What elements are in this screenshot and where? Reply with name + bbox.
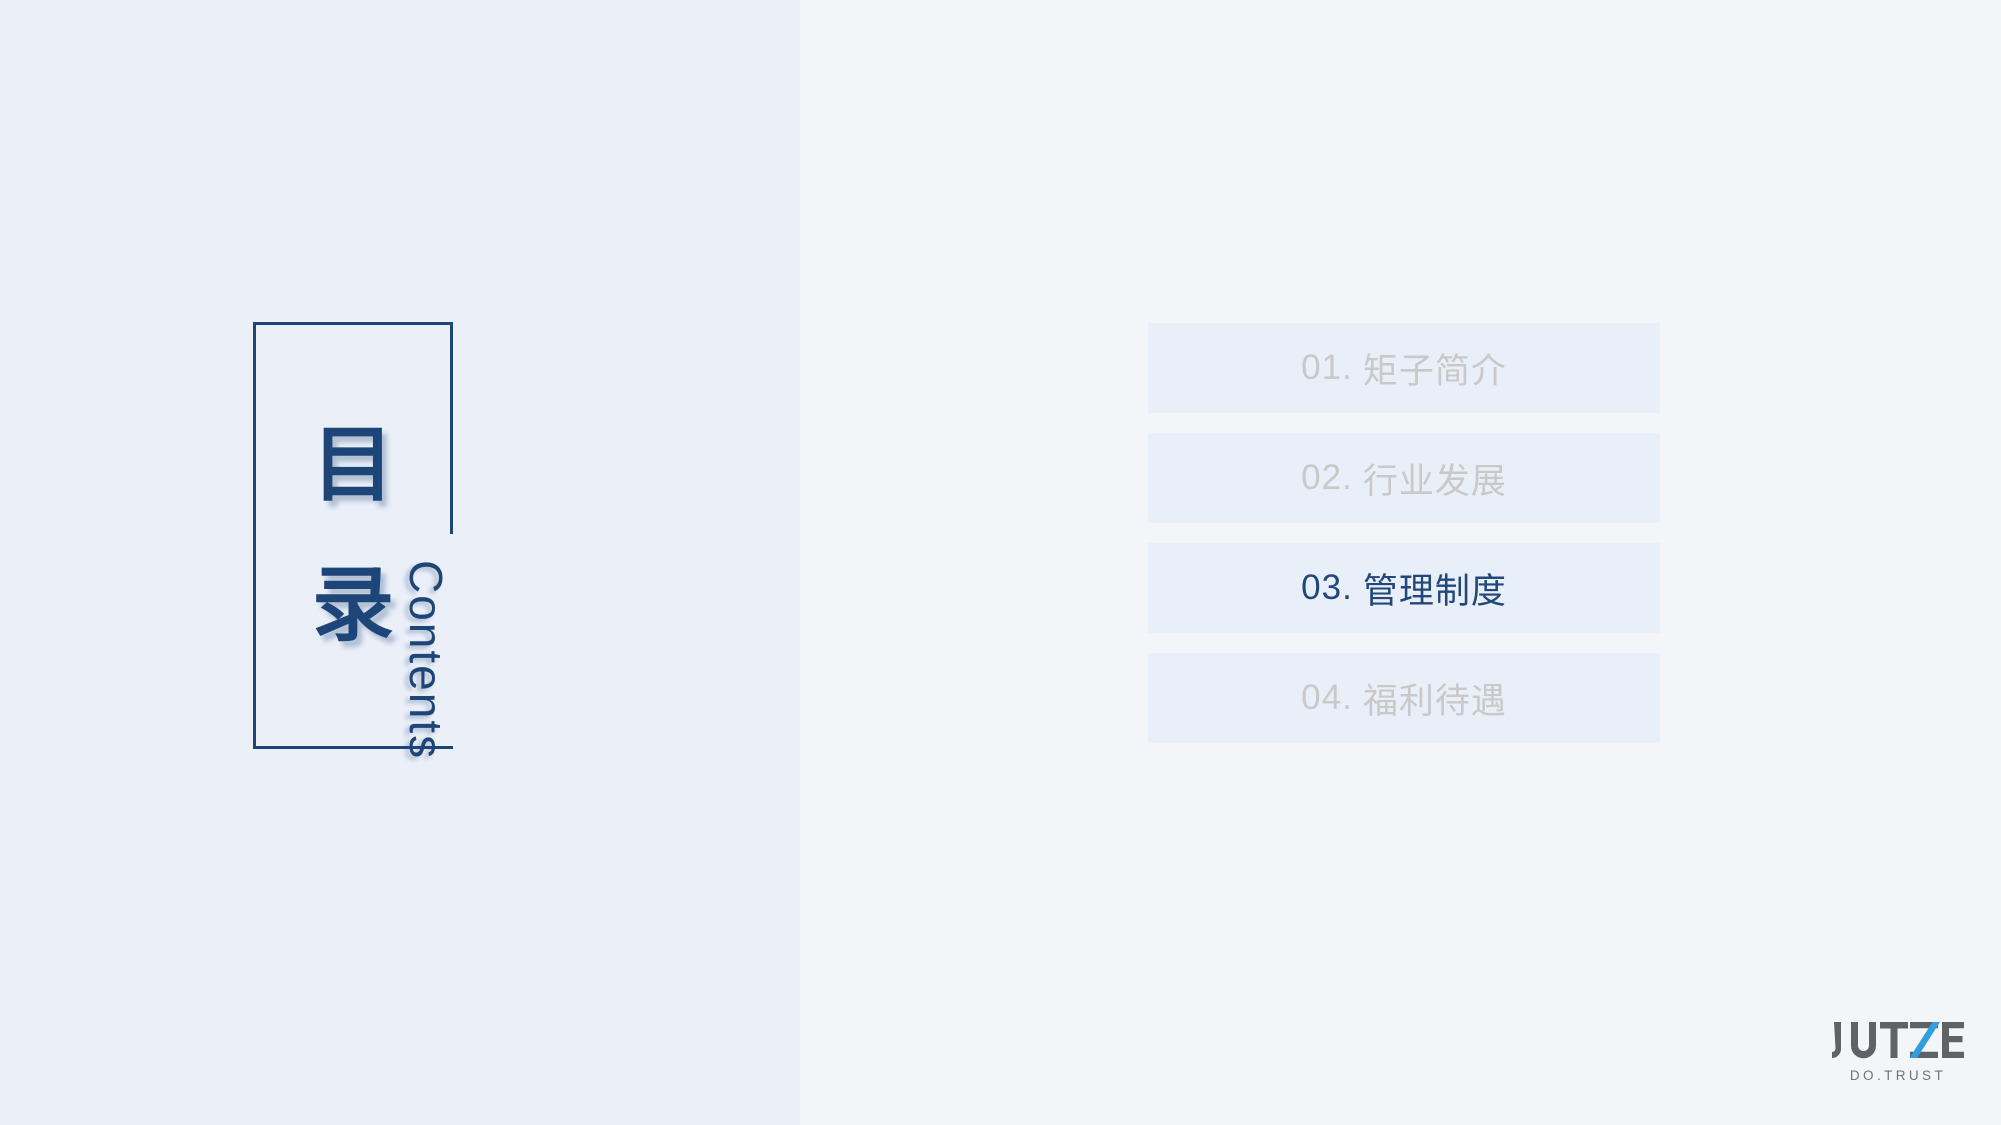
agenda-item-04-number: 04. <box>1301 678 1353 718</box>
slide-canvas: 目 录 Contents 01. 矩子简介 02. 行业发展 03. 管理制度 … <box>0 0 2001 1125</box>
agenda-item-03[interactable]: 03. 管理制度 <box>1148 543 1660 633</box>
title-char-mu: 目 <box>312 425 394 507</box>
agenda-list: 01. 矩子简介 02. 行业发展 03. 管理制度 04. 福利待遇 <box>1148 323 1660 743</box>
agenda-item-04-label: 福利待遇 <box>1363 673 1507 724</box>
title-char-lu: 录 <box>312 565 394 647</box>
agenda-item-01[interactable]: 01. 矩子简介 <box>1148 323 1660 413</box>
contents-subtitle: Contents <box>399 560 453 760</box>
agenda-item-02-label: 行业发展 <box>1363 453 1507 504</box>
agenda-item-02-number: 02. <box>1301 458 1353 498</box>
jutze-wordmark <box>1832 1018 1964 1062</box>
agenda-item-01-number: 01. <box>1301 348 1353 388</box>
agenda-item-02[interactable]: 02. 行业发展 <box>1148 433 1660 523</box>
jutze-logo: DO.TRUST <box>1832 1018 1964 1090</box>
jutze-tagline: DO.TRUST <box>1832 1068 1964 1083</box>
agenda-item-01-label: 矩子简介 <box>1363 343 1507 394</box>
agenda-item-04[interactable]: 04. 福利待遇 <box>1148 653 1660 743</box>
agenda-item-03-label: 管理制度 <box>1363 563 1507 614</box>
jutze-wordmark-icon <box>1832 1018 1964 1062</box>
agenda-item-03-number: 03. <box>1301 568 1353 608</box>
